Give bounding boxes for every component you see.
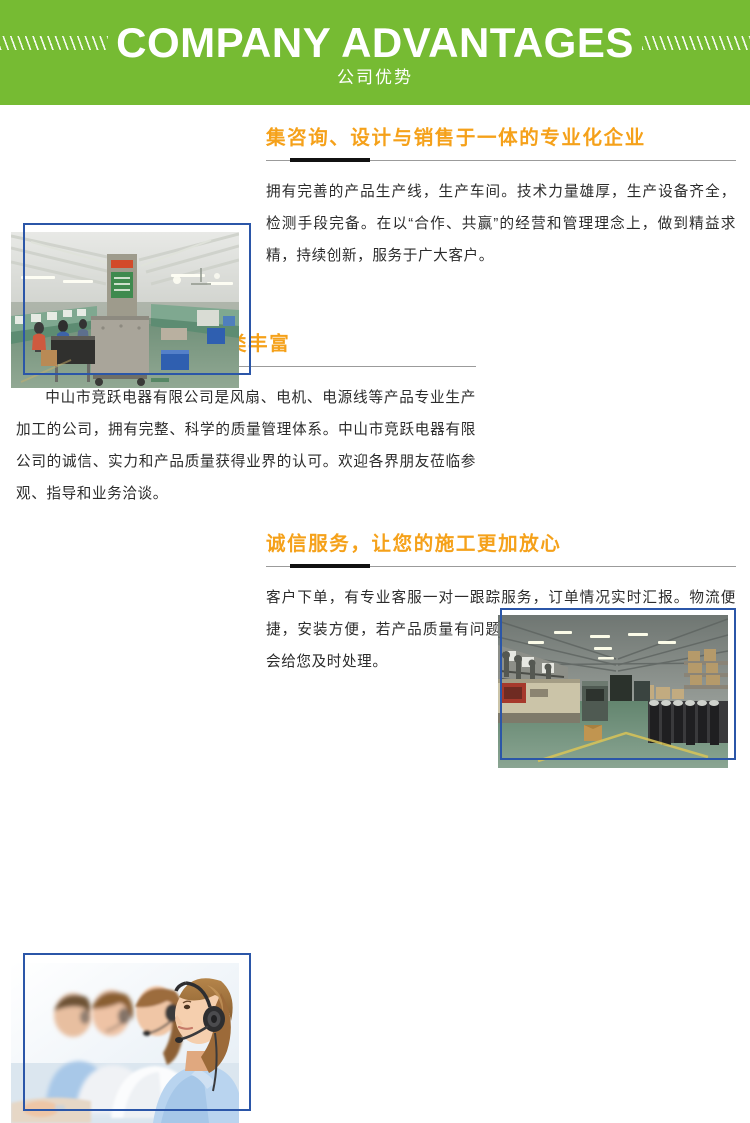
section-1-photo [11,232,239,388]
hatch-decoration-left-icon [0,36,108,50]
banner-title-row: COMPANY ADVANTAGES [0,22,750,64]
section-1-body: 拥有完善的产品生产线，生产车间。技术力量雄厚，生产设备齐全，检测手段完备。在以“… [266,176,736,272]
page-banner: COMPANY ADVANTAGES 公司优势 [0,0,750,105]
section-2-image [498,608,738,768]
section-1-heading: 集咨询、设计与销售于一体的专业化企业 [266,128,736,149]
section-2-photo [498,615,728,768]
section-3-photo [11,963,239,1123]
page-title: COMPANY ADVANTAGES [110,22,640,64]
section-3-image [11,953,251,1123]
section-1-text: 集咨询、设计与销售于一体的专业化企业 拥有完善的产品生产线，生产车间。技术力量雄… [266,128,736,272]
section-2-body: 中山市竞跃电器有限公司是风扇、电机、电源线等产品专业生产加工的公司，拥有完整、科… [16,382,476,510]
section-3-divider [266,564,736,569]
section-3-heading: 诚信服务，让您的施工更加放心 [266,534,736,555]
company-advantages-page: COMPANY ADVANTAGES 公司优势 [0,0,750,693]
hatch-decoration-right-icon [642,36,750,50]
section-1-divider [266,158,736,163]
page-subtitle: 公司优势 [337,69,413,86]
section-1-image [11,223,251,388]
